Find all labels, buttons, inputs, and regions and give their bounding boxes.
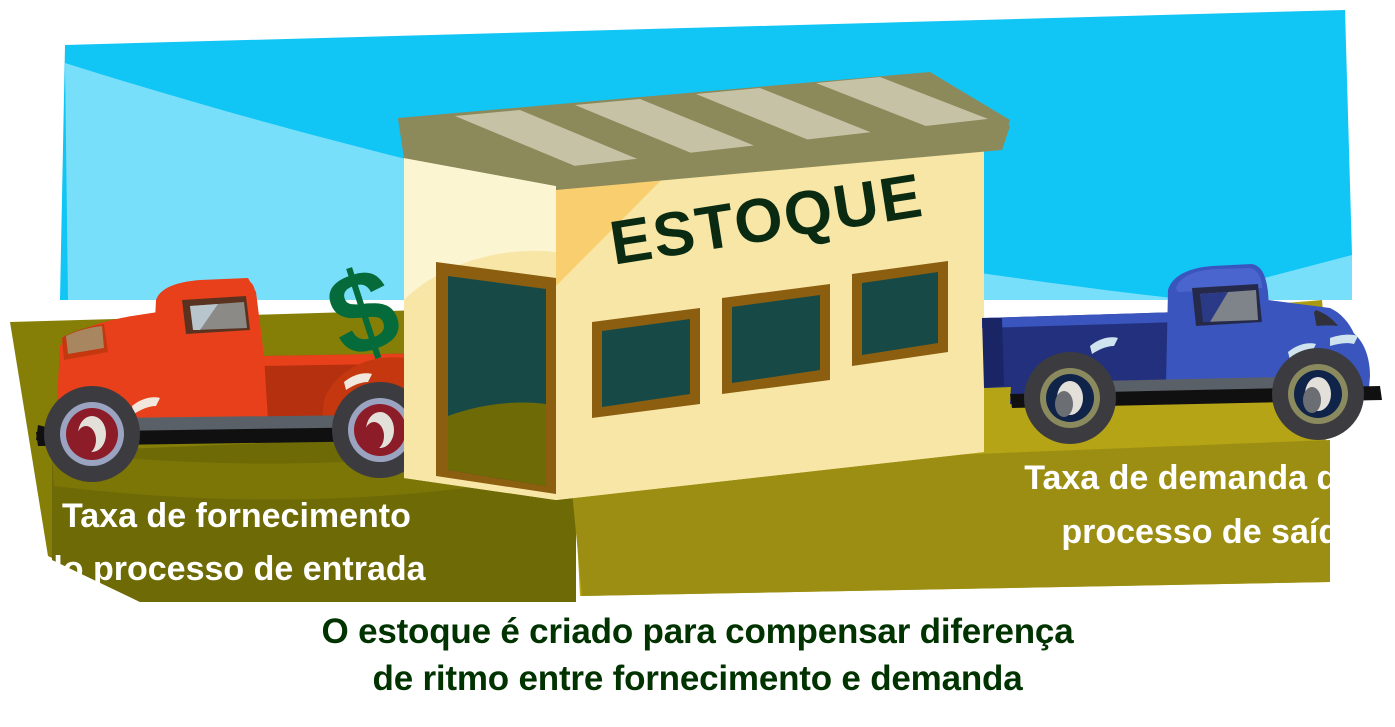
illustration-stage: $: [0, 0, 1395, 727]
blue-truck-bed-front: [982, 318, 1004, 388]
red-truck-front-wheel: [44, 386, 140, 482]
label-right-line2: processo de saída: [1061, 513, 1359, 551]
blue-truck-rear-wheel: [1024, 352, 1116, 444]
warehouse-icon: ESTOQUE: [398, 72, 1010, 500]
blue-truck-front-wheel: [1272, 348, 1364, 440]
warehouse-window-3: [852, 261, 948, 366]
warehouse-window-2: [722, 284, 830, 394]
label-left-line1: Taxa de fornecimento: [62, 497, 411, 535]
label-right-line1: Taxa de demanda do: [1024, 459, 1358, 497]
warehouse-scene-illustration: $: [0, 0, 1395, 727]
warehouse-window-1: [592, 308, 700, 418]
label-left-line2: do processo de entrada: [42, 550, 427, 588]
